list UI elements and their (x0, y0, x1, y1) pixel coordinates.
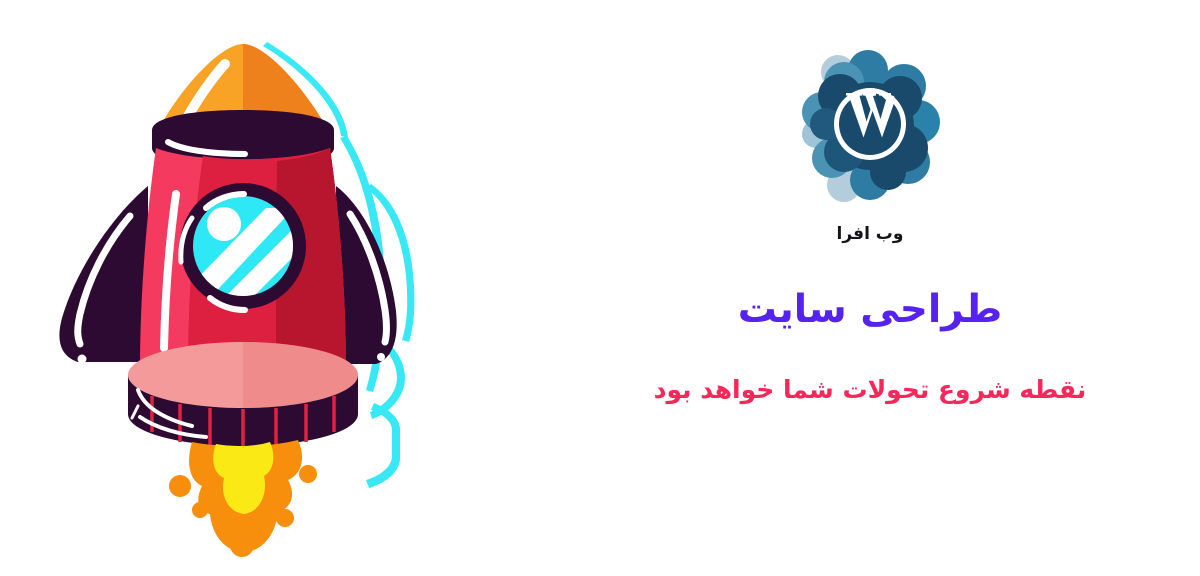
rocket-fin-left (59, 186, 148, 364)
brand-column: وب افرا طراحی سایت نقطه شروع تحولات شما … (600, 30, 1140, 450)
poster-canvas: وب افرا طراحی سایت نقطه شروع تحولات شما … (0, 0, 1200, 576)
wordpress-logo (800, 48, 940, 208)
rocket-illustration (40, 18, 460, 563)
brand-name: وب افرا (837, 224, 904, 244)
wordpress-w-mark (834, 88, 906, 160)
page-title: طراحی سایت (738, 288, 1002, 333)
page-subtitle: نقطه شروع تحولات شما خواهد بود (654, 375, 1087, 405)
rocket-base-rim (128, 342, 358, 408)
